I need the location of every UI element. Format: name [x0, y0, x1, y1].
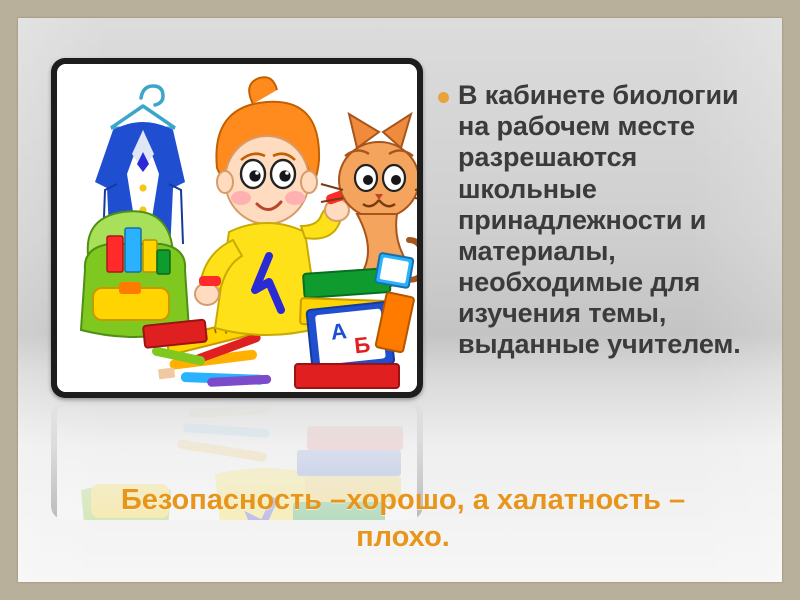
svg-text:А: А: [330, 318, 349, 345]
slide-image: А Б: [51, 58, 423, 398]
cartoon-boy-with-school-supplies-art: А Б: [57, 64, 417, 392]
bullet-item: В кабинете биологии на рабочем месте раз…: [438, 80, 768, 361]
book-stack: А Б: [295, 253, 414, 388]
bullet-dot-icon: [438, 92, 449, 103]
slide: А Б В кабинете биологии н: [18, 18, 782, 582]
body-text-block: В кабинете биологии на рабочем месте раз…: [438, 80, 768, 361]
svg-text:Б: Б: [353, 332, 372, 359]
body-paragraph: В кабинете биологии на рабочем месте раз…: [458, 80, 768, 361]
slide-title: Безопасность –хорошо, а халатность – пло…: [78, 482, 728, 556]
